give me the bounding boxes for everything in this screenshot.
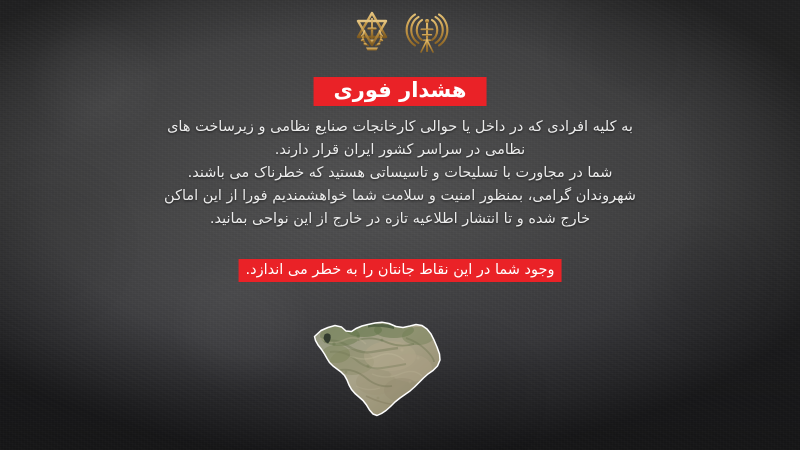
warning-body-line-5: خارج شده و تا انتشار اطلاعیه تازه در خار… bbox=[70, 208, 730, 231]
danger-emphasis-text: وجود شما در این نقاط جانتان را به خطر می… bbox=[239, 259, 562, 282]
warning-poster: هشدار فوری به کلیه افرادی که در داخل یا … bbox=[0, 0, 800, 450]
warning-body-line-1: به کلیه افرادی که در داخل یا حوالی کارخا… bbox=[70, 116, 730, 139]
warning-body-line-4: شهروندان گرامی، بمنظور امنیت و سلامت شما… bbox=[70, 185, 730, 208]
iran-satellite-map bbox=[306, 310, 448, 422]
emblem-bar bbox=[0, 6, 800, 58]
danger-emphasis: وجود شما در این نقاط جانتان را به خطر می… bbox=[239, 259, 562, 282]
idf-insignia-icon bbox=[351, 9, 393, 55]
urgent-warning-title: هشدار فوری bbox=[334, 80, 467, 101]
warning-body-line-2: نظامی در سراسر کشور ایران قرار دارند. bbox=[70, 139, 730, 162]
urgent-warning-banner: هشدار فوری bbox=[314, 77, 487, 106]
warning-body: به کلیه افرادی که در داخل یا حوالی کارخا… bbox=[70, 116, 730, 231]
broadcast-tower-icon bbox=[405, 9, 449, 55]
warning-body-line-3: شما در مجاورت با تسلیحات و تاسیساتی هستی… bbox=[70, 162, 730, 185]
